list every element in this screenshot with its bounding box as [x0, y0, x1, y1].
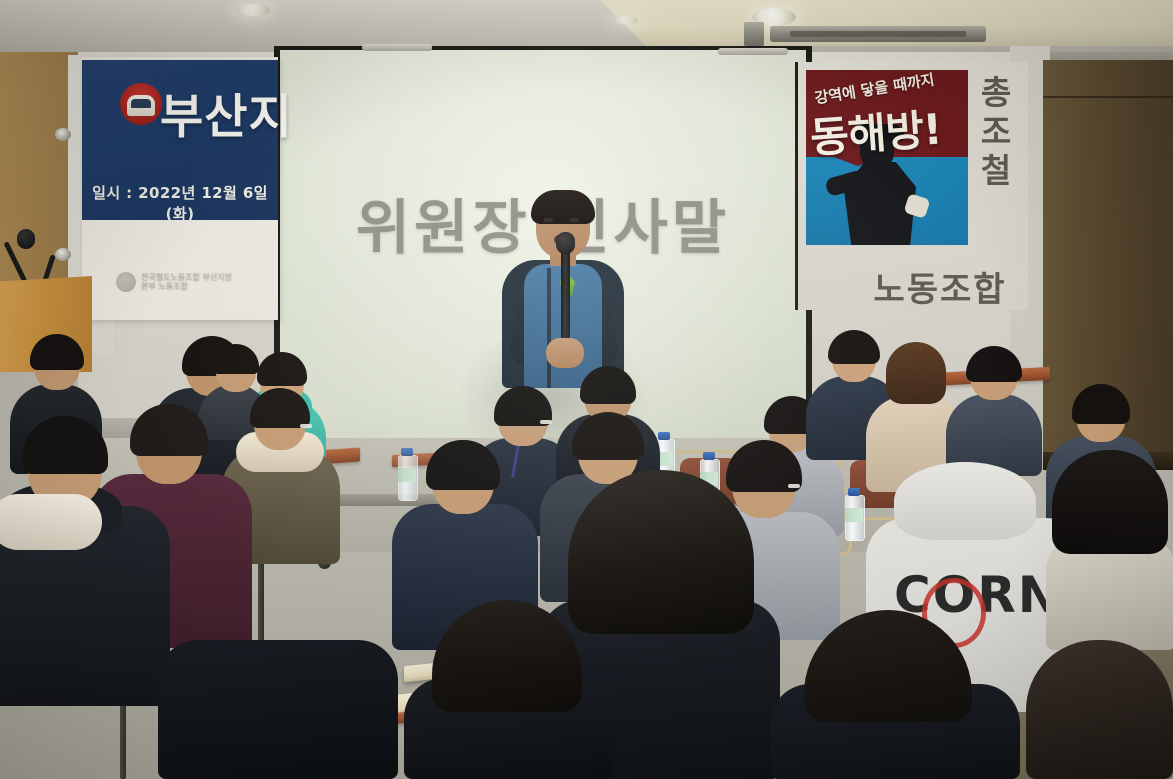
wall-knob-upper: [55, 128, 71, 141]
attendee-front-right-large: [770, 610, 1020, 779]
ceiling-light-2: [236, 4, 270, 16]
attendee-hair: [426, 440, 500, 490]
attendee-hair: [572, 412, 644, 460]
attendee-front-center-left: [404, 600, 614, 779]
attendee-hair: [1026, 640, 1173, 779]
bottle-label: [845, 508, 863, 522]
banner-bottom-logo: 전국철도노동조합 부산지방본부 노동조합: [116, 269, 236, 295]
ceiling-rail-slot: [790, 31, 966, 37]
face-mask-strap: [300, 424, 312, 428]
attendee-hair: [22, 416, 108, 474]
banner-blue-panel: 부산지 일시 : 2022년 12월 6일(화): [82, 60, 278, 220]
attendee-hair: [966, 346, 1022, 382]
attendee-body: [158, 640, 398, 779]
attendee-hair: [1052, 450, 1168, 554]
attendee-hair: [432, 600, 582, 712]
banner-date-text: 일시 : 2022년 12월 6일(화): [82, 182, 278, 224]
bottle-cap: [848, 488, 860, 496]
fur-collar: [0, 494, 102, 550]
attendee-hood: [894, 462, 1036, 540]
screen-mount-left: [362, 44, 432, 51]
handheld-microphone-icon: [561, 244, 570, 340]
banner-logo-text: 전국철도노동조합 부산지방본부 노동조합: [141, 273, 236, 291]
attendee-hair: [213, 344, 259, 374]
face-mask-strap: [788, 484, 800, 488]
attendee-hair: [30, 334, 84, 370]
banner-title-text: 부산지: [160, 78, 293, 147]
speaker-vest-zipper: [547, 268, 551, 388]
attendee-hair: [886, 342, 946, 404]
attendee-far-right-front: [1026, 640, 1173, 779]
gooseneck-microphone-icon: [17, 229, 35, 249]
right-propaganda-poster: 강역에 닿을 때까지 동해방!: [806, 70, 968, 245]
speaker-hands: [546, 338, 584, 368]
poster-slogan-line2: 동해방!: [808, 96, 943, 166]
conference-hall-photo: 위원장 인사말 부산지 일시 : 2022년 12월 6일(화) 전국철도노동조…: [0, 0, 1173, 779]
speaker-on-stage: [498, 188, 628, 388]
microphone-head-icon: [556, 232, 575, 254]
ceiling-projector-mount: [744, 22, 764, 46]
speaker-eye-right: [570, 218, 579, 222]
attendee-hair: [1072, 384, 1130, 424]
speaker-hair: [531, 190, 595, 224]
ceiling-light-3: [612, 16, 638, 25]
banner-logo-mark-icon: [116, 272, 136, 292]
attendee-hair: [580, 366, 636, 404]
attendee-far-right-back: [946, 346, 1042, 476]
poster-vertical-text: 총 조 철: [975, 74, 1019, 191]
attendee-dark-hair-right: [1046, 450, 1173, 650]
attendee-front-left-dark: [158, 600, 398, 779]
left-event-banner: 부산지 일시 : 2022년 12월 6일(화) 전국철도노동조합 부산지방본부…: [82, 57, 278, 320]
attendee-white-fur-left: [0, 474, 110, 594]
wall-knob-lower: [55, 248, 71, 261]
train-emblem-icon: [120, 83, 162, 125]
speaker-eye-left: [544, 218, 553, 222]
attendee-hair: [250, 388, 310, 428]
poster-bottom-text: 노동조합: [845, 262, 1035, 311]
attendee-hair: [804, 610, 972, 722]
screen-mount-right: [718, 48, 788, 55]
